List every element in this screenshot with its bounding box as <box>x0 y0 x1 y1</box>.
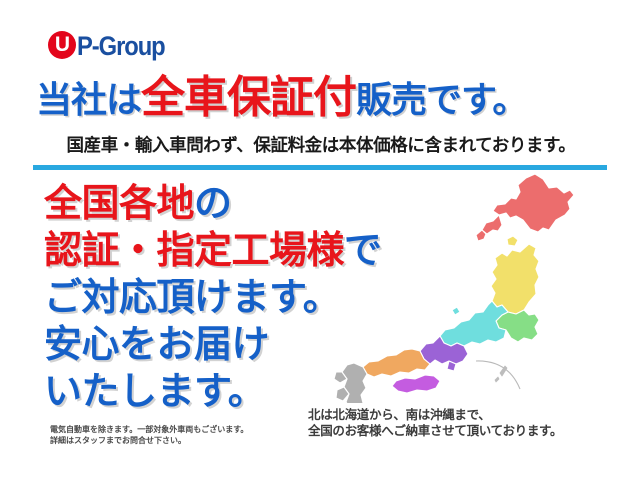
brand-logo: U P-Group <box>48 29 177 61</box>
map-okinawa-inset <box>476 361 520 389</box>
message-line-3-blue: ご対応頂けます。 <box>44 277 340 319</box>
map-caption: 北は北海道から、南は沖縄まで、 全国のお客様へご納車させて頂いております。 <box>308 407 562 439</box>
headline: 当社は全車保証付販売です。 <box>36 76 616 120</box>
map-region-shikoku <box>392 375 440 393</box>
disclaimer-line-2: 詳細はスタッフまでお問合せ下さい。 <box>50 435 248 446</box>
message-line-1-blue: の <box>194 183 232 225</box>
logo-wordmark: P-Group <box>77 33 165 60</box>
message-line-5-blue: いたします。 <box>44 371 265 413</box>
disclaimer-line-1: 電気自動車を除きます。一部対象外車両もございます。 <box>50 424 248 435</box>
map-caption-line-1: 北は北海道から、南は沖縄まで、 <box>308 407 562 423</box>
map-region-okinawa <box>495 366 507 382</box>
headline-part2: 販売です。 <box>356 79 527 120</box>
japan-map <box>330 168 630 403</box>
headline-emphasis: 全車保証付 <box>141 73 356 122</box>
logo-circle-mark: U <box>48 31 76 59</box>
map-region-chugoku <box>363 349 430 377</box>
message-line-4-blue: 安心をお届け <box>44 324 269 366</box>
headline-part1: 当社は <box>36 79 141 120</box>
map-region-tohoku <box>491 236 539 314</box>
message-line-2-red: 認証・指定工場様 <box>44 230 344 272</box>
logo-mark-letter: U <box>55 34 69 55</box>
message-line-1-red: 全国各地 <box>44 183 194 225</box>
japan-map-svg <box>330 168 630 403</box>
promo-banner: U P-Group 当社は全車保証付販売です。 国産車・輸入車問わず、保証料金は… <box>0 0 640 480</box>
disclaimer: 電気自動車を除きます。一部対象外車両もございます。 詳細はスタッフまでお問合せ下… <box>50 424 248 446</box>
map-region-kyushu <box>334 363 367 403</box>
map-caption-line-2: 全国のお客様へご納車させて頂いております。 <box>308 423 562 439</box>
subheadline: 国産車・輸入車問わず、保証料金は本体価格に含まれております。 <box>32 137 610 155</box>
map-region-hokkaido <box>476 174 574 241</box>
